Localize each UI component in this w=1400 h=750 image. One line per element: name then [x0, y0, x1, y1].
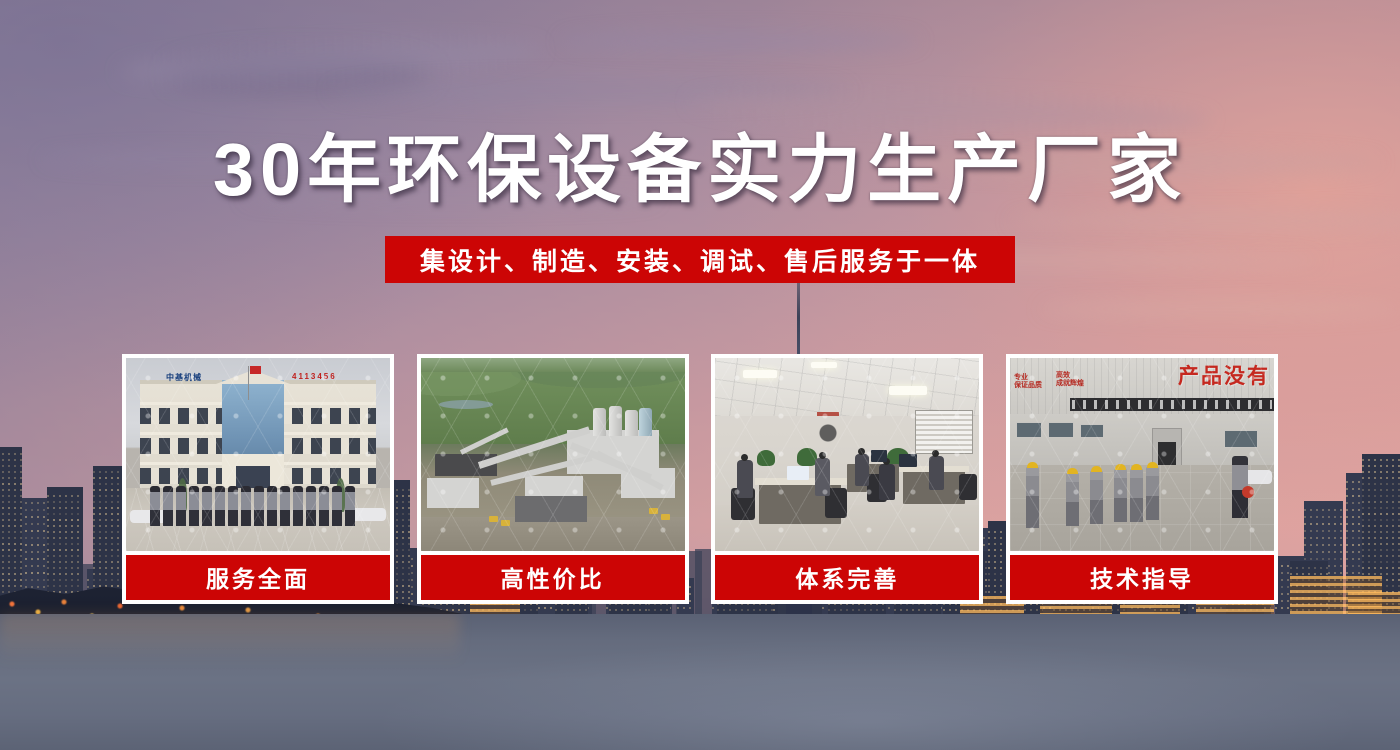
feature-card-list: 中基机械 4113456 服务全面 [122, 354, 1278, 604]
card-caption-text: 技术指导 [1090, 560, 1194, 594]
banner-stage: 30年环保设备实力生产厂家 集设计、制造、安装、调试、售后服务于一体 [0, 0, 1400, 750]
feature-card[interactable]: 高性价比 [417, 354, 689, 604]
subtitle-banner: 集设计、制造、安装、调试、售后服务于一体 [385, 236, 1015, 283]
pond [439, 400, 493, 409]
slogan-right-sub: 成就辉煌 [1056, 380, 1084, 387]
feature-card[interactable]: 体系完善 [711, 354, 983, 604]
feature-card[interactable]: 中基机械 4113456 服务全面 [122, 354, 394, 604]
wall-decal [811, 416, 845, 444]
factory-wall-text: 产品没有 [1178, 360, 1270, 390]
card-caption-text: 体系完善 [795, 560, 899, 594]
drop-ceiling [715, 358, 979, 416]
card-photo-headquarters: 中基机械 4113456 [126, 358, 390, 551]
page-title: 30年环保设备实力生产厂家 [0, 130, 1400, 210]
cloud-shape [560, 30, 920, 52]
card-caption-bar: 技术指导 [1010, 555, 1274, 600]
staff-lineup [150, 486, 364, 528]
card-photo-workers-factory: 产品没有 专业 保证品质 高效 成就辉煌 [1010, 358, 1274, 551]
card-caption-text: 服务全面 [206, 560, 310, 594]
factory-slogan-right: 高效 成就辉煌 [1056, 372, 1084, 388]
card-photo-plant-aerial [421, 358, 685, 551]
window-blinds [915, 410, 973, 454]
card-caption-bar: 服务全面 [126, 555, 390, 600]
feature-card[interactable]: 产品没有 专业 保证品质 高效 成就辉煌 [1006, 354, 1278, 604]
card-caption-text: 高性价比 [501, 560, 605, 594]
card-photo-office-interior [715, 358, 979, 551]
facade-window-band [1070, 398, 1274, 411]
slogan-left-main: 专业 [1014, 374, 1028, 381]
flag-icon [250, 366, 261, 374]
card-caption-bar: 高性价比 [421, 555, 685, 600]
building-sign-text: 中基机械 [166, 372, 202, 383]
slogan-left-sub: 保证品质 [1014, 382, 1042, 389]
water-reflection [0, 614, 460, 664]
red-helmet-icon [1242, 486, 1254, 498]
slogan-right-main: 高效 [1056, 372, 1070, 379]
card-caption-bar: 体系完善 [715, 555, 979, 600]
flag-pole [248, 366, 249, 400]
factory-slogan-left: 专业 保证品质 [1014, 374, 1042, 390]
building-phone-text: 4113456 [292, 372, 337, 381]
subtitle-text: 集设计、制造、安装、调试、售后服务于一体 [420, 242, 980, 278]
building-entrance [222, 454, 284, 488]
